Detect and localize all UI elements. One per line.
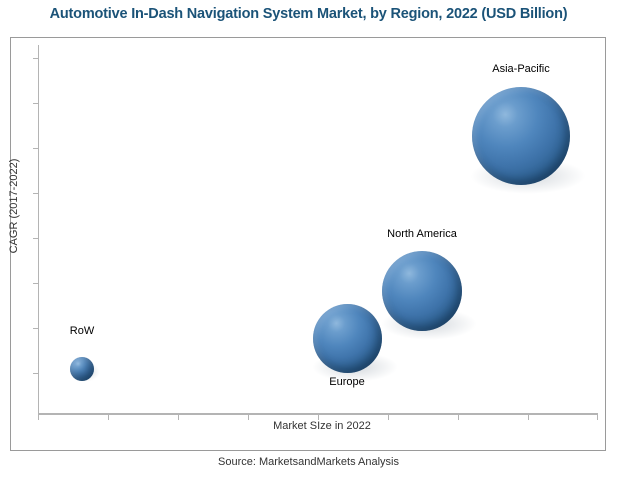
y-axis-line bbox=[38, 45, 39, 414]
y-axis-tick bbox=[33, 148, 38, 149]
y-axis-tick bbox=[33, 58, 38, 59]
bubble-label-north-america: North America bbox=[372, 228, 472, 240]
y-axis-tick bbox=[33, 193, 38, 194]
y-axis-tick bbox=[33, 373, 38, 374]
y-axis-tick bbox=[33, 328, 38, 329]
bubble-europe[interactable] bbox=[313, 304, 382, 373]
bubble-label-asia-pacific: Asia-Pacific bbox=[471, 63, 571, 75]
bubble-asia-pacific[interactable] bbox=[472, 87, 570, 185]
source-note: Source: MarketsandMarkets Analysis bbox=[0, 456, 617, 468]
x-axis-title: Market SIze in 2022 bbox=[222, 420, 422, 432]
x-axis-tick bbox=[178, 415, 179, 420]
x-axis-tick bbox=[528, 415, 529, 420]
x-axis-tick bbox=[597, 415, 598, 420]
x-axis-tick bbox=[458, 415, 459, 420]
bubble-row[interactable] bbox=[70, 357, 94, 381]
x-axis-tick bbox=[108, 415, 109, 420]
y-axis-tick bbox=[33, 283, 38, 284]
chart-title: Automotive In-Dash Navigation System Mar… bbox=[0, 6, 617, 22]
bubble-label-europe: Europe bbox=[307, 376, 387, 388]
y-axis-tick bbox=[33, 238, 38, 239]
y-axis-tick bbox=[33, 103, 38, 104]
chart-page: Automotive In-Dash Navigation System Mar… bbox=[0, 0, 617, 478]
bubble-label-row: RoW bbox=[42, 325, 122, 337]
bubble-north-america[interactable] bbox=[382, 251, 462, 331]
x-axis-tick bbox=[38, 415, 39, 420]
y-axis-title: CAGR (2017-2022) bbox=[8, 126, 20, 286]
